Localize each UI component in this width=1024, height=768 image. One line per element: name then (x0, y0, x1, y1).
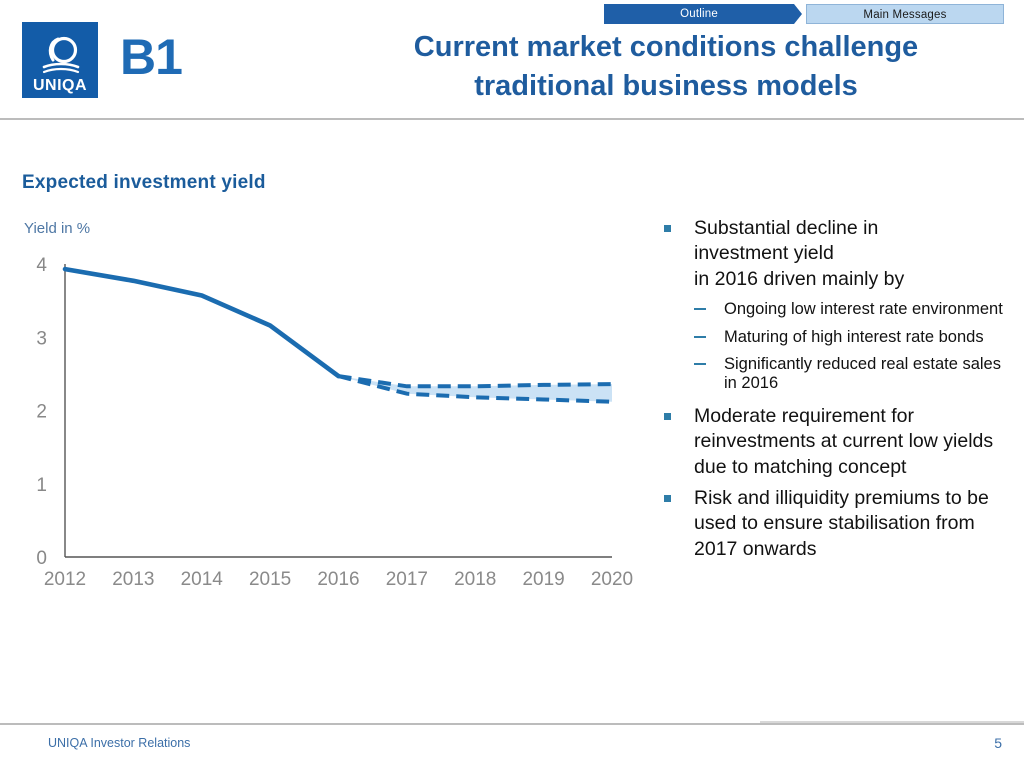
dash-icon (694, 308, 706, 310)
bullet-text-line-3: in 2016 driven mainly by (694, 268, 904, 290)
chart-x-tick: 2015 (249, 569, 291, 590)
chart-x-tick: 2019 (522, 569, 564, 590)
svg-text:UNIQA: UNIQA (33, 77, 87, 94)
bullet-text-line-1: Substantial decline in (694, 217, 878, 239)
bullet-square-icon (664, 495, 671, 502)
uniqa-logo: UNIQA (22, 22, 98, 98)
tab-main-messages[interactable]: Main Messages (806, 4, 1004, 24)
sub-bullet-group: Ongoing low interest rate environment Ma… (660, 300, 1016, 394)
chart-x-tick: 2018 (454, 569, 496, 590)
bullet-square-icon (664, 225, 671, 232)
bullet-text: Risk and illiquidity premiums to be used… (694, 487, 989, 560)
footer-divider-right (760, 721, 1024, 723)
sub-bullet-text: Significantly reduced real estate sales … (724, 355, 1001, 392)
chart-y-tick: 4 (36, 255, 47, 276)
slide-nav-tabs: Outline Main Messages (604, 4, 1004, 24)
bullet-item: Substantial decline in investment yield … (660, 216, 1016, 292)
bullet-square-icon (664, 413, 671, 420)
sub-bullet-item: Significantly reduced real estate sales … (660, 355, 1016, 394)
dash-icon (694, 336, 706, 338)
header-divider (0, 118, 1024, 120)
chart-x-tick: 2013 (112, 569, 154, 590)
page-title: Current market conditions challenge trad… (330, 28, 1002, 105)
page-title-line-1: Current market conditions challenge (330, 28, 1002, 67)
chart-x-tick: 2012 (44, 569, 86, 590)
chart-x-tick: 2016 (317, 569, 359, 590)
sub-bullet-text: Ongoing low interest rate environment (724, 300, 1003, 318)
slide: Outline Main Messages UNIQA B1 Current m… (0, 0, 1024, 768)
sub-bullet-item: Ongoing low interest rate environment (660, 300, 1016, 319)
footer-divider (0, 723, 1024, 725)
chart-y-tick: 3 (36, 328, 47, 349)
footer-label: UNIQA Investor Relations (48, 736, 190, 750)
page-number: 5 (994, 735, 1002, 751)
tab-outline[interactable]: Outline (604, 4, 802, 24)
chart-forecast-band (339, 376, 613, 402)
chart-x-tick-labels: 201220132014201520162017201820192020 (44, 569, 633, 590)
investment-yield-chart: 01234 2012201320142015201620172018201920… (0, 250, 650, 600)
chart-y-tick: 0 (36, 548, 47, 569)
chart-x-tick: 2017 (386, 569, 428, 590)
chart-y-tick: 1 (36, 475, 47, 496)
chart-actual-line (65, 269, 339, 376)
chart-x-tick: 2014 (181, 569, 224, 590)
chart-y-tick: 2 (36, 402, 47, 423)
bullet-item: Risk and illiquidity premiums to be used… (660, 486, 1016, 562)
chart-y-tick-labels: 01234 (36, 255, 47, 569)
bullet-text: Moderate requirement for reinvestments a… (694, 405, 993, 478)
sub-bullet-item: Maturing of high interest rate bonds (660, 328, 1016, 347)
chart-x-tick: 2020 (591, 569, 633, 590)
chart-heading: Expected investment yield (22, 172, 266, 194)
bullet-item: Moderate requirement for reinvestments a… (660, 404, 1016, 480)
chapter-label: B1 (120, 28, 182, 86)
key-messages-list: Substantial decline in investment yield … (660, 216, 1016, 566)
chart-y-axis-title: Yield in % (24, 220, 90, 237)
sub-bullet-text: Maturing of high interest rate bonds (724, 328, 984, 346)
page-title-line-2: traditional business models (330, 67, 1002, 106)
dash-icon (694, 363, 706, 365)
bullet-text-line-2: investment yield (694, 242, 834, 264)
